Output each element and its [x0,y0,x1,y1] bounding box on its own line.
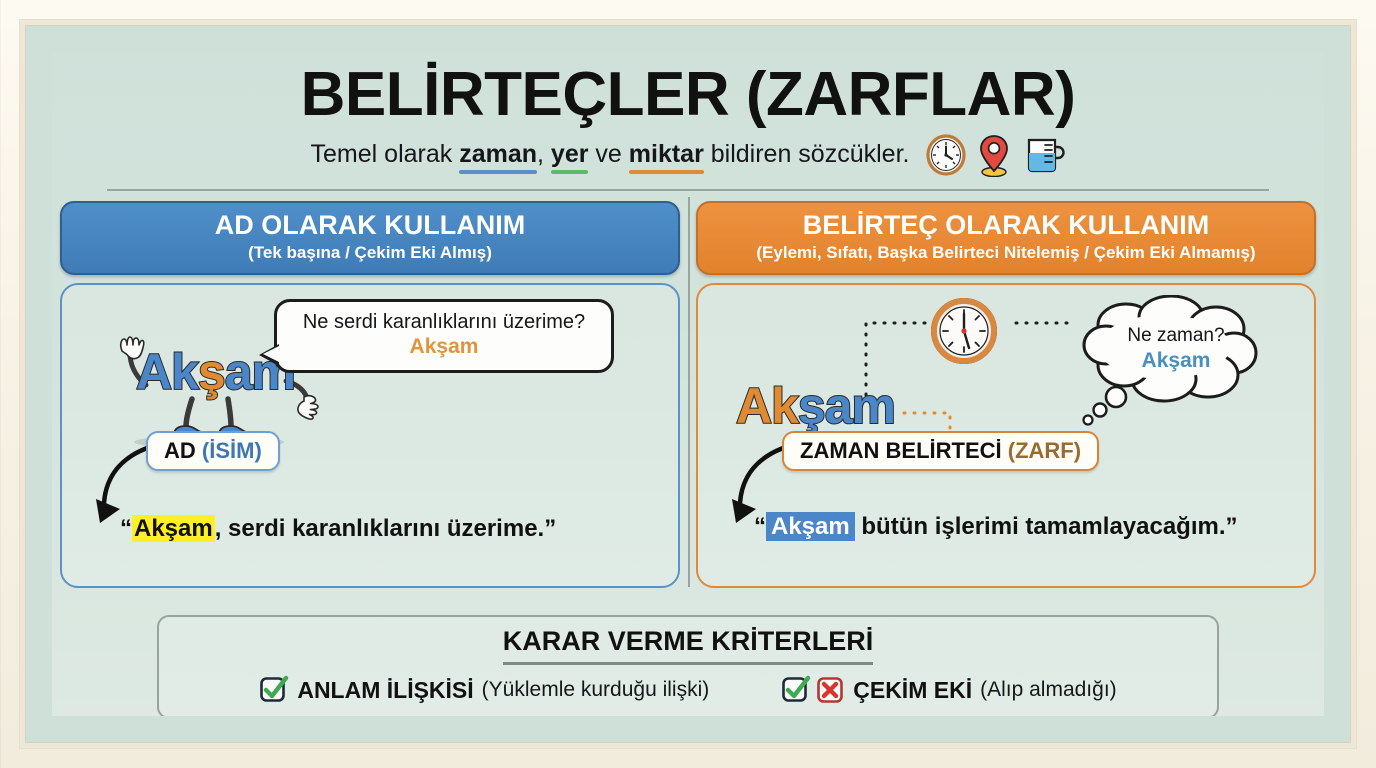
left-panel-title: AD OLARAK KULLANIM [72,211,668,241]
speech-bubble: Ne serdi karanlıklarını üzerime? Akşam [274,299,614,373]
thought-answer: Akşam [1106,349,1246,373]
criteria-row: ANLAM İLİŞKİSİ (Yüklemle kurduğu ilişki) [173,675,1203,705]
right-example-rest: bütün işlerimi tamamlayacağım.” [855,513,1238,540]
mascot-word-ak: Ak [136,344,198,400]
subtitle-pre: Temel olarak [311,140,460,168]
keyword-yer: yer [551,140,589,171]
right-panel-subtitle: (Eylemi, Sıfatı, Başka Belirteci Nitelem… [708,243,1304,263]
subtitle-post: bildiren sözcükler. [704,140,910,168]
header-icon-group [925,133,1065,177]
column-divider [688,197,690,587]
ad-isim-badge: AD (İSİM) [146,431,280,471]
right-column: BELİRTEÇ OLARAK KULLANIM (Eylemi, Sıfatı… [688,201,1324,601]
check-icon [781,675,811,705]
right-example-sentence: “Akşam bütün işlerimi tamamlayacağım.” [754,513,1238,541]
left-example-open-quote: “ [120,515,132,542]
criteria-title: KARAR VERME KRİTERLERİ [503,626,874,665]
keyword-zaman: zaman [459,140,537,171]
comparison-columns: AD OLARAK KULLANIM (Tek başına / Çekim E… [52,201,1324,601]
thought-bubble: Ne zaman? Akşam [1076,295,1266,415]
right-panel-header: BELİRTEÇ OLARAK KULLANIM (Eylemi, Sıfatı… [696,201,1316,275]
subtitle: Temel olarak zaman, yer ve miktar bildir… [311,140,910,171]
left-example-highlight: Akşam [132,515,215,542]
zaman-belirteci-badge-main: ZAMAN BELİRTECİ [800,438,1008,463]
clock-icon [925,134,967,176]
right-panel-title: BELİRTEÇ OLARAK KULLANIM [708,211,1304,241]
cross-icon [815,675,845,705]
mascot-word-s: ş [198,344,225,400]
speech-bubble-tail-inner [263,346,279,362]
thought-question: Ne zaman? [1106,325,1246,347]
subtitle-sep2: ve [588,140,628,168]
criteria-marks-cekim [781,675,845,705]
keyword-miktar: miktar [629,140,704,171]
right-example-highlight: Akşam [766,512,855,541]
page-title: BELİRTEÇLER (ZARFLAR) [52,62,1324,127]
measuring-jug-icon [1021,133,1065,177]
infographic-canvas: BELİRTEÇLER (ZARFLAR) Temel olarak zaman… [52,52,1324,716]
criteria-label-anlam: ANLAM İLİŞKİSİ [297,677,473,704]
right-hand-icon [298,396,318,419]
subtitle-sep1: , [537,140,551,168]
location-pin-icon [977,133,1011,177]
zaman-belirteci-badge: ZAMAN BELİRTECİ (ZARF) [782,431,1099,471]
ad-isim-badge-main: AD [164,438,202,463]
right-panel-body: Akşam [696,283,1316,588]
criteria-item-anlam: ANLAM İLİŞKİSİ (Yüklemle kurduğu ilişki) [259,675,709,705]
right-example-open-quote: “ [754,513,766,540]
criteria-note-cekim: (Alıp almadığı) [980,678,1117,702]
zaman-belirteci-badge-paren: (ZARF) [1008,438,1081,463]
left-panel-subtitle: (Tek başına / Çekim Eki Almış) [72,243,668,263]
criteria-marks-anlam [259,675,289,705]
criteria-note-anlam: (Yüklemle kurduğu ilişki) [482,678,710,702]
left-panel-body: Akşam Ne serdi karanlıklarını üzerime? A… [60,283,680,588]
picture-frame: BELİRTEÇLER (ZARFLAR) Temel olarak zaman… [0,0,1376,768]
check-icon [259,675,289,705]
criteria-item-cekim: ÇEKİM EKİ (Alıp almadığı) [781,675,1116,705]
clock-icon [928,295,1000,367]
header-divider [107,189,1269,191]
thought-bubble-text: Ne zaman? Akşam [1106,325,1246,373]
subtitle-row: Temel olarak zaman, yer ve miktar bildir… [52,133,1324,177]
criteria-label-cekim: ÇEKİM EKİ [853,677,972,704]
frame-bevel: BELİRTEÇLER (ZARFLAR) Temel olarak zaman… [20,20,1356,748]
speech-bubble-answer: Akşam [289,335,599,359]
left-example-sentence: “Akşam, serdi karanlıklarını üzerime.” [120,515,556,543]
left-panel-header: AD OLARAK KULLANIM (Tek başına / Çekim E… [60,201,680,275]
clock-illustration [928,295,1000,372]
criteria-section: KARAR VERME KRİTERLERİ ANLAM İLİŞKİSİ (Y… [157,615,1219,716]
left-column: AD OLARAK KULLANIM (Tek başına / Çekim E… [52,201,688,601]
left-example-rest: , serdi karanlıklarını üzerime.” [215,515,556,542]
header: BELİRTEÇLER (ZARFLAR) Temel olarak zaman… [52,52,1324,191]
speech-bubble-question: Ne serdi karanlıklarını üzerime? [289,311,599,334]
ad-isim-badge-paren: (İSİM) [202,438,262,463]
